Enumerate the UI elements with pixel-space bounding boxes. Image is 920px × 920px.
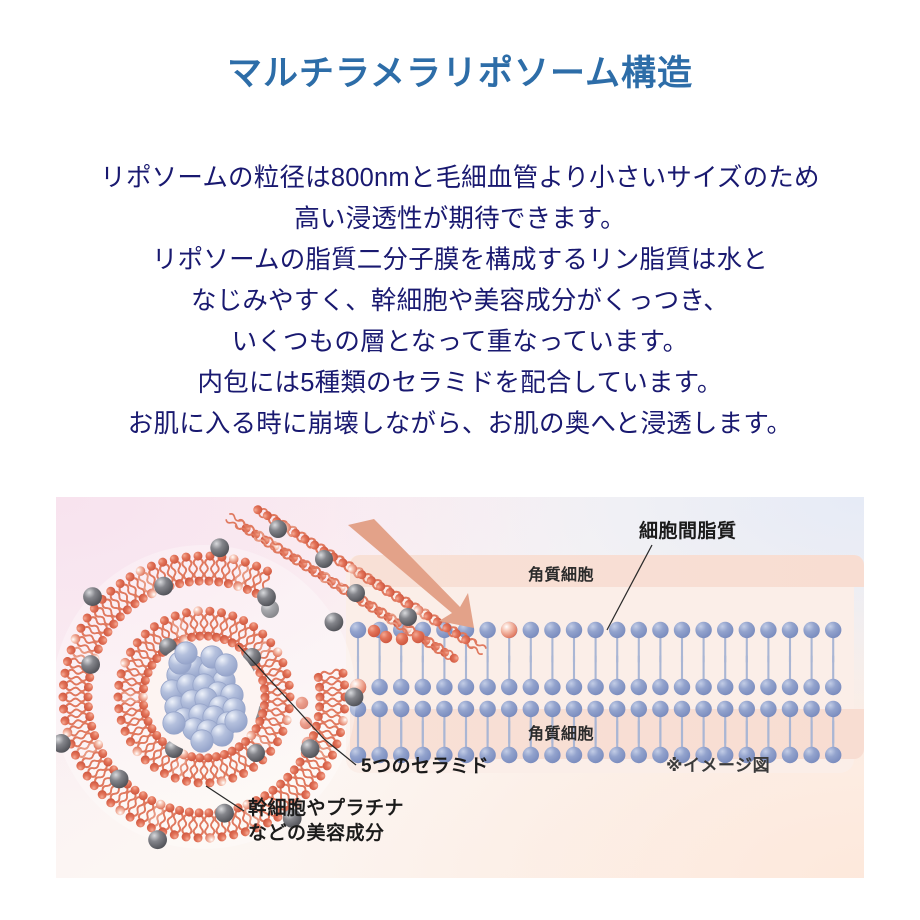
stem-cell-sphere xyxy=(210,538,229,557)
lipid-head-blue xyxy=(760,701,776,717)
stem-cell-sphere xyxy=(345,688,364,707)
lipid-head-blue xyxy=(739,701,755,717)
liposome-diagram-svg xyxy=(56,497,864,878)
lipid-head-blue xyxy=(674,622,690,638)
lipid-head-blue xyxy=(803,622,819,638)
lipid-head-blue xyxy=(393,701,409,717)
lipid-head-blue xyxy=(631,701,647,717)
label-corneocyte-bottom: 角質細胞 xyxy=(528,724,594,745)
lipid-head-blue xyxy=(609,679,625,695)
lipid-head-blue xyxy=(458,679,474,695)
body-copy: リポソームの粒径は800nmと毛細血管より小さいサイズのため 高い浸透性が期待で… xyxy=(0,158,920,445)
body-line-2: 高い浸透性が期待できます。 xyxy=(0,199,920,240)
stem-cell-sphere xyxy=(247,744,265,762)
lipid-head-blue xyxy=(566,622,582,638)
lipid-head-blue xyxy=(544,679,560,695)
lipid-head-blue xyxy=(458,701,474,717)
stem-cell-sphere xyxy=(148,830,167,849)
lipid-head-blue xyxy=(609,622,625,638)
lipid-head-blue xyxy=(544,622,560,638)
label-stem-cells: 幹細胞やプラチナ などの美容成分 xyxy=(248,796,404,846)
stem-cell-sphere xyxy=(347,584,365,602)
body-line-4: なじみやすく、幹細胞や美容成分がくっつき、 xyxy=(0,281,920,322)
lipid-head-blue xyxy=(523,701,539,717)
lipid-head-blue xyxy=(566,679,582,695)
lipid-head-blue xyxy=(803,679,819,695)
stem-cell-sphere xyxy=(257,588,276,607)
lipid-head-blue xyxy=(371,679,387,695)
lipid-head-blue xyxy=(609,747,625,763)
lipid-head-blue xyxy=(760,622,776,638)
lipid-head-blue xyxy=(371,701,387,717)
lipid-head-blue xyxy=(587,622,603,638)
lipid-head-blue xyxy=(479,701,495,717)
lipid-head-blue xyxy=(803,747,819,763)
liposome-diagram-panel: 細胞間脂質 角質細胞 角質細胞 5つのセラミド 幹細胞やプラチナ などの美容成分… xyxy=(56,497,864,878)
lipid-head-blue xyxy=(652,679,668,695)
lipid-head-blue xyxy=(523,622,539,638)
label-corneocyte-top: 角質細胞 xyxy=(528,565,594,586)
lipid-head-blue xyxy=(782,701,798,717)
lipid-head-blue xyxy=(609,701,625,717)
stem-cell-sphere xyxy=(83,587,102,606)
lipid-head-blue xyxy=(415,679,431,695)
lipid-head-blue xyxy=(479,622,495,638)
body-line-7: お肌に入る時に崩壊しながら、お肌の奥へと浸透します。 xyxy=(0,404,920,445)
lipid-head-blue xyxy=(523,747,539,763)
lipid-head-blue xyxy=(566,701,582,717)
lipid-head-blue xyxy=(825,747,841,763)
ceramide-sphere xyxy=(191,730,213,752)
lipid-head-blue xyxy=(631,622,647,638)
body-line-1: リポソームの粒径は800nmと毛細血管より小さいサイズのため xyxy=(0,158,920,199)
lipid-head-blue xyxy=(695,622,711,638)
ceramide-sphere xyxy=(175,642,197,664)
ceramide-sphere xyxy=(163,712,185,734)
lipid-head-blue xyxy=(544,701,560,717)
lipid-head-blue xyxy=(479,679,495,695)
lipid-head-blue xyxy=(523,679,539,695)
lipid-head-blue xyxy=(652,622,668,638)
ceramide-sphere xyxy=(225,710,247,732)
lipid-head-blue xyxy=(501,679,517,695)
infographic-page: マルチラメラリポソーム構造 リポソームの粒径は800nmと毛細血管より小さいサイ… xyxy=(0,0,920,920)
stem-cell-sphere xyxy=(81,655,100,674)
stem-cell-sphere xyxy=(399,608,417,626)
body-line-6: 内包には5種類のセラミドを配合しています。 xyxy=(0,363,920,404)
lipid-head-blue xyxy=(631,747,647,763)
lipid-head-blue xyxy=(782,622,798,638)
lipid-head-blue xyxy=(739,622,755,638)
ceramide-sphere xyxy=(215,654,237,676)
lipid-head-blue xyxy=(695,701,711,717)
lipid-red xyxy=(226,513,253,535)
lipid-head-blue xyxy=(739,679,755,695)
lipid-head-blue xyxy=(674,679,690,695)
lipid-head-blue xyxy=(566,747,582,763)
label-intercellular-lipid: 細胞間脂質 xyxy=(639,519,737,544)
page-title: マルチラメラリポソーム構造 xyxy=(0,53,920,95)
label-five-ceramides: 5つのセラミド xyxy=(361,754,489,779)
lipid-head-blue xyxy=(782,747,798,763)
stem-cell-sphere xyxy=(110,770,129,789)
stem-cell-sphere xyxy=(269,520,287,538)
lipid-head-blue xyxy=(544,747,560,763)
label-image-note: ※イメージ図 xyxy=(666,755,770,777)
lipid-head-blue xyxy=(501,747,517,763)
lipid-head-blue xyxy=(652,701,668,717)
body-line-3: リポソームの脂質二分子膜を構成するリン脂質は水と xyxy=(0,240,920,281)
stem-cell-sphere xyxy=(301,739,320,758)
lipid-head-blue xyxy=(717,622,733,638)
lipid-head-blue xyxy=(393,679,409,695)
lipid-head-blue xyxy=(587,747,603,763)
lipid-head-blue xyxy=(782,679,798,695)
stem-cell-sphere xyxy=(325,613,344,632)
lipid-head-blue xyxy=(415,701,431,717)
stem-cell-sphere xyxy=(315,550,333,568)
stem-cell-sphere xyxy=(154,577,173,596)
lipid-head-blue xyxy=(695,679,711,695)
lipid-head-blue xyxy=(825,622,841,638)
lipid-head-blue xyxy=(350,622,366,638)
lipid-head-blue xyxy=(674,701,690,717)
lipid-head-blue xyxy=(717,679,733,695)
lipid-head-blue xyxy=(501,701,517,717)
lipid-head-blue xyxy=(436,679,452,695)
lipid-head-blue xyxy=(587,701,603,717)
body-line-5: いくつもの層となって重なっています。 xyxy=(0,322,920,363)
lipid-head-blue xyxy=(803,701,819,717)
lipid-head-blue xyxy=(631,679,647,695)
lipid-head-blue xyxy=(436,701,452,717)
lipid-head-blue xyxy=(825,701,841,717)
stem-cell-sphere xyxy=(215,804,234,823)
lipid-head-blue xyxy=(825,679,841,695)
lipid-head-blue xyxy=(717,701,733,717)
lipid-head-blue xyxy=(760,679,776,695)
lipid-head-blue xyxy=(587,679,603,695)
